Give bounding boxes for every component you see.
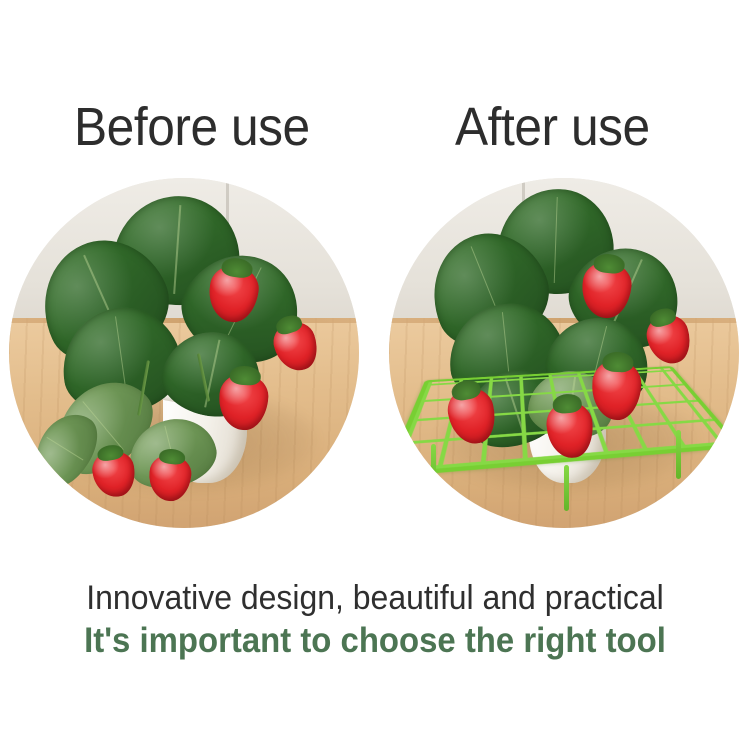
lattice-leg (676, 430, 681, 479)
lattice-leg (431, 444, 436, 493)
heading-before-use: Before use (74, 96, 310, 158)
scene-after (389, 178, 739, 528)
caption-line-2: It's important to choose the right tool (23, 620, 728, 662)
caption-line-1: Innovative design, beautiful and practic… (23, 578, 728, 618)
photo-before-use (9, 178, 359, 528)
scene-before (9, 178, 359, 528)
photo-after-use (389, 178, 739, 528)
product-comparison-poster: Before use After use (0, 0, 750, 750)
heading-after-use: After use (455, 96, 650, 158)
lattice-leg (564, 465, 569, 511)
